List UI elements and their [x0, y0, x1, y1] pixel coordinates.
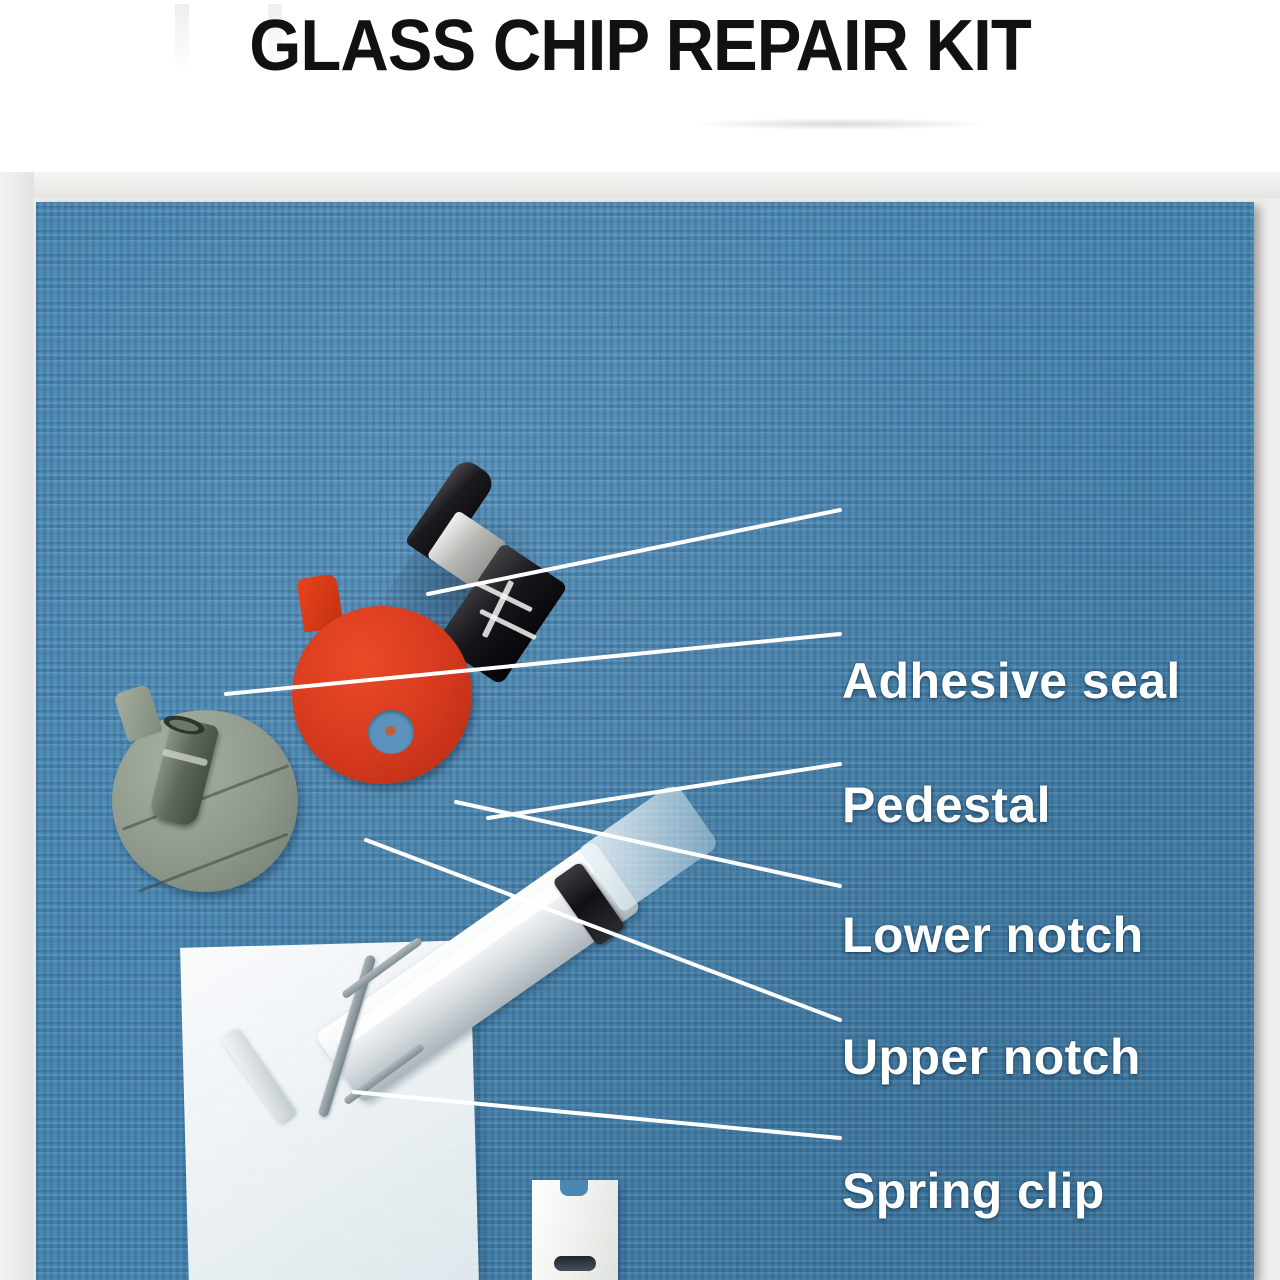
product-photo: Adhesive seal Pedestal Lower notch Upper… — [36, 202, 1254, 1280]
leader-line-lower-notch — [488, 764, 840, 818]
leader-line-adhesive-seal — [428, 510, 840, 594]
label-pedestal: Pedestal — [842, 778, 1051, 832]
label-adhesive-seal: Adhesive seal — [842, 654, 1181, 708]
header-smudge — [690, 118, 990, 130]
page-title: GLASS CHIP REPAIR KIT — [45, 6, 1235, 86]
leader-line-upper-notch — [456, 802, 840, 886]
leader-line-curing-film — [354, 1092, 840, 1138]
leader-line-pedestal — [226, 634, 840, 694]
label-upper-notch: Upper notch — [842, 1030, 1141, 1084]
label-spring-clip: Spring clip — [842, 1164, 1105, 1218]
photo-frame: Adhesive seal Pedestal Lower notch Upper… — [0, 172, 1280, 1280]
header-band: GLASS CHIP REPAIR KIT — [0, 0, 1280, 172]
leader-lines — [36, 202, 1254, 1280]
leader-line-spring-clip — [366, 840, 840, 1020]
product-image: GLASS CHIP REPAIR KIT — [0, 0, 1280, 1280]
label-lower-notch: Lower notch — [842, 908, 1144, 962]
photo-left-margin — [0, 172, 34, 1280]
